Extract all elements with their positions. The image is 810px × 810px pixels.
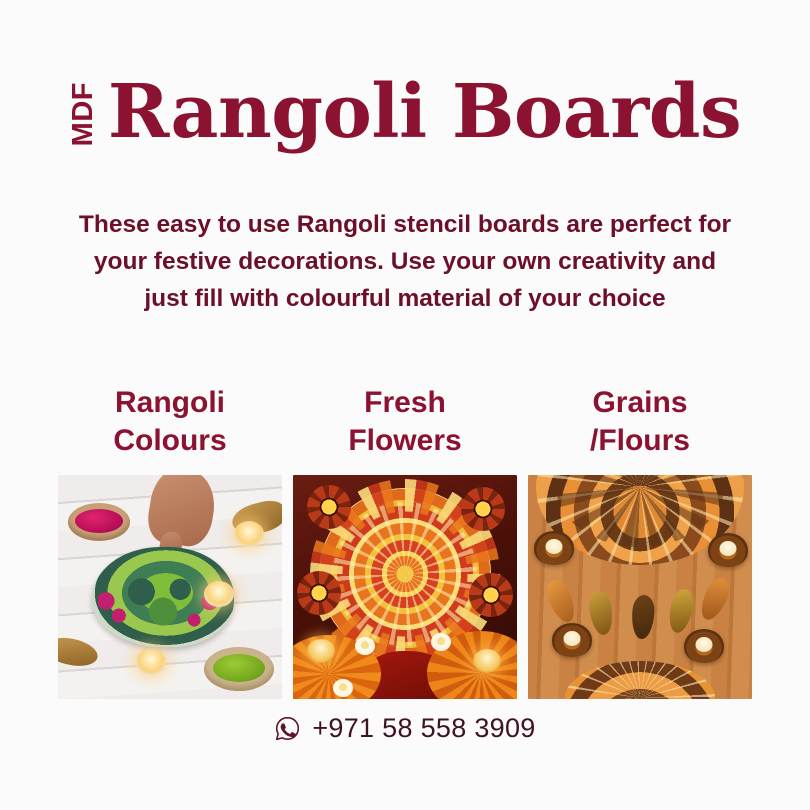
leaf-motif-3: [630, 594, 655, 639]
contact-footer[interactable]: +971 58 558 3909: [274, 715, 535, 742]
frangipani-flower-3: [333, 679, 353, 697]
category-label-line2: /Flours: [528, 422, 752, 460]
hand: [144, 475, 219, 550]
category-label-line2: Flowers: [293, 422, 517, 460]
green-powder-bowl: [204, 647, 274, 691]
category-label-line2: Colours: [58, 422, 282, 460]
category-label-line1: Fresh: [364, 386, 446, 419]
lotus-motif: [565, 661, 715, 699]
product-photo-rangoli-colours: [58, 475, 282, 699]
phone-number[interactable]: +971 58 558 3909: [312, 715, 535, 742]
clay-diya-4: [684, 629, 724, 663]
title-main: Rangoli Boards: [108, 78, 741, 146]
title-prefix-mdf: MDF: [69, 79, 98, 146]
category-label-rangoli-colours: Rangoli Colours: [58, 384, 282, 460]
clay-diya-1: [534, 531, 574, 565]
tea-light-3: [136, 649, 166, 675]
pink-powder-bowl: [68, 503, 130, 541]
marigold-cluster-4: [469, 573, 513, 617]
tea-light-1: [234, 521, 264, 547]
category-label-line1: Rangoli: [115, 386, 225, 419]
whatsapp-icon[interactable]: [274, 715, 301, 742]
marigold-cluster-2: [461, 487, 505, 531]
clay-diya-2: [708, 533, 748, 567]
category-label-line1: Grains: [592, 386, 687, 419]
leaf-motif-4: [666, 587, 697, 635]
product-photo-grains-flours: [528, 475, 752, 699]
tea-light-right: [473, 649, 501, 673]
category-labels-row: Rangoli Colours Fresh Flowers Grains /Fl…: [58, 384, 752, 460]
marigold-cluster-3: [297, 571, 341, 615]
poster-title: MDF Rangoli Boards: [69, 48, 741, 146]
category-label-fresh-flowers: Fresh Flowers: [293, 384, 517, 460]
category-label-grains-flours: Grains /Flours: [528, 384, 752, 460]
product-photo-fresh-flowers: [293, 475, 517, 699]
poster-description: These easy to use Rangoli stencil boards…: [75, 206, 735, 317]
product-photos-row: [58, 475, 752, 699]
clay-diya-3: [552, 623, 592, 657]
tea-light-2: [204, 581, 234, 607]
frangipani-flower-1: [355, 637, 375, 655]
frangipani-flower-2: [431, 633, 451, 651]
brass-diya-bottom-left: [58, 634, 100, 670]
leaf-motif-2: [587, 590, 615, 637]
leaf-motif-1: [543, 576, 580, 625]
tea-light-left: [307, 639, 335, 663]
marigold-cluster-1: [307, 485, 351, 529]
leaf-motif-5: [696, 574, 734, 623]
poster: MDF Rangoli Boards These easy to use Ran…: [0, 0, 810, 810]
